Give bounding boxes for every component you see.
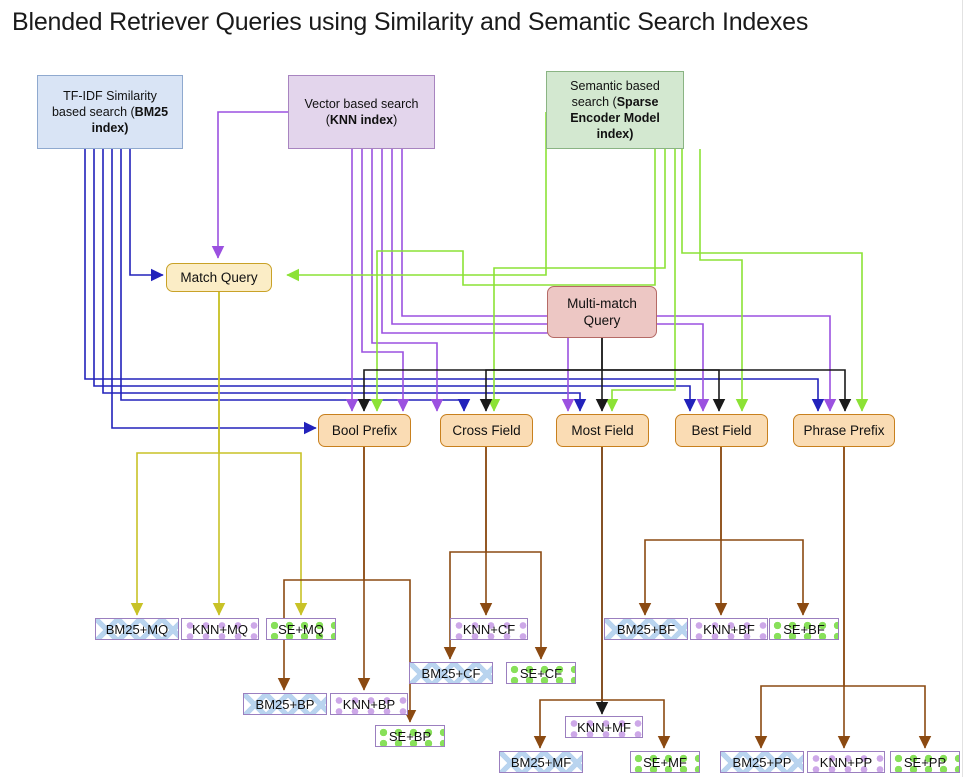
source-se-line1: Semantic based xyxy=(570,79,660,93)
leaf-label: KNN+BP xyxy=(342,697,396,712)
leaf-knn-mf[interactable]: KNN+MF xyxy=(565,716,643,738)
leaf-bm25-mq[interactable]: BM25+MQ xyxy=(95,618,179,640)
leaf-label: SE+MQ xyxy=(277,622,325,637)
leaf-label: KNN+MF xyxy=(576,720,632,735)
node-most-field[interactable]: Most Field xyxy=(556,414,649,447)
leaf-label: BM25+CF xyxy=(421,666,482,681)
node-bool-prefix[interactable]: Bool Prefix xyxy=(318,414,411,447)
node-cross-field[interactable]: Cross Field xyxy=(440,414,533,447)
leaf-label: KNN+PP xyxy=(819,755,873,770)
node-match-query[interactable]: Match Query xyxy=(166,263,272,292)
source-se-line2: search ( xyxy=(572,95,617,109)
best-field-label: Best Field xyxy=(691,422,751,439)
source-knn-line1: Vector based search xyxy=(305,97,419,111)
source-bm25-line2: based search ( xyxy=(52,105,135,119)
most-field-label: Most Field xyxy=(571,422,633,439)
cross-field-label: Cross Field xyxy=(452,422,520,439)
source-bm25-line3: index) xyxy=(92,121,129,135)
leaf-bm25-bp[interactable]: BM25+BP xyxy=(243,693,327,715)
leaf-bm25-cf[interactable]: BM25+CF xyxy=(409,662,493,684)
leaf-se-cf[interactable]: SE+CF xyxy=(506,662,576,684)
leaf-label: BM25+BP xyxy=(255,697,316,712)
multi-match-query-label: Multi-matchQuery xyxy=(567,295,637,329)
node-multi-match-query[interactable]: Multi-matchQuery xyxy=(547,286,657,338)
leaf-label: SE+PP xyxy=(903,755,947,770)
node-phrase-prefix[interactable]: Phrase Prefix xyxy=(793,414,895,447)
leaf-label: SE+BF xyxy=(782,622,826,637)
leaf-knn-bp[interactable]: KNN+BP xyxy=(330,693,408,715)
source-box-knn[interactable]: Vector based search (KNN index) xyxy=(288,75,435,149)
leaf-label: BM25+PP xyxy=(732,755,793,770)
diagram-canvas: Blended Retriever Queries using Similari… xyxy=(0,0,963,777)
bool-prefix-label: Bool Prefix xyxy=(332,422,397,439)
leaf-se-bp[interactable]: SE+BP xyxy=(375,725,445,747)
leaf-knn-bf[interactable]: KNN+BF xyxy=(690,618,768,640)
leaf-label: BM25+MQ xyxy=(105,622,170,637)
source-knn-bold: KNN index xyxy=(330,113,393,127)
leaf-label: BM25+MF xyxy=(510,755,572,770)
leaf-label: SE+BP xyxy=(388,729,432,744)
leaf-bm25-bf[interactable]: BM25+BF xyxy=(604,618,688,640)
leaf-se-mf[interactable]: SE+MF xyxy=(630,751,700,773)
leaf-label: KNN+BF xyxy=(702,622,756,637)
leaf-bm25-mf[interactable]: BM25+MF xyxy=(499,751,583,773)
leaf-label: KNN+MQ xyxy=(191,622,249,637)
source-se-line3: index) xyxy=(597,127,634,141)
leaf-label: BM25+BF xyxy=(616,622,676,637)
leaf-se-bf[interactable]: SE+BF xyxy=(769,618,839,640)
leaf-knn-cf[interactable]: KNN+CF xyxy=(450,618,528,640)
match-query-label: Match Query xyxy=(180,269,257,286)
phrase-prefix-label: Phrase Prefix xyxy=(803,422,884,439)
source-box-bm25[interactable]: TF-IDF Similarity based search (BM25 ind… xyxy=(37,75,183,149)
node-best-field[interactable]: Best Field xyxy=(675,414,768,447)
leaf-label: SE+MF xyxy=(642,755,688,770)
page-title: Blended Retriever Queries using Similari… xyxy=(12,8,808,37)
leaf-knn-pp[interactable]: KNN+PP xyxy=(807,751,885,773)
source-bm25-bold: BM25 xyxy=(135,105,168,119)
leaf-se-pp[interactable]: SE+PP xyxy=(890,751,960,773)
leaf-knn-mq[interactable]: KNN+MQ xyxy=(181,618,259,640)
leaf-label: KNN+CF xyxy=(462,622,516,637)
leaf-se-mq[interactable]: SE+MQ xyxy=(266,618,336,640)
source-bm25-line1: TF-IDF Similarity xyxy=(63,89,157,103)
leaf-label: SE+CF xyxy=(519,666,563,681)
leaf-bm25-pp[interactable]: BM25+PP xyxy=(720,751,804,773)
source-box-se[interactable]: Semantic based search (Sparse Encoder Mo… xyxy=(546,71,684,149)
